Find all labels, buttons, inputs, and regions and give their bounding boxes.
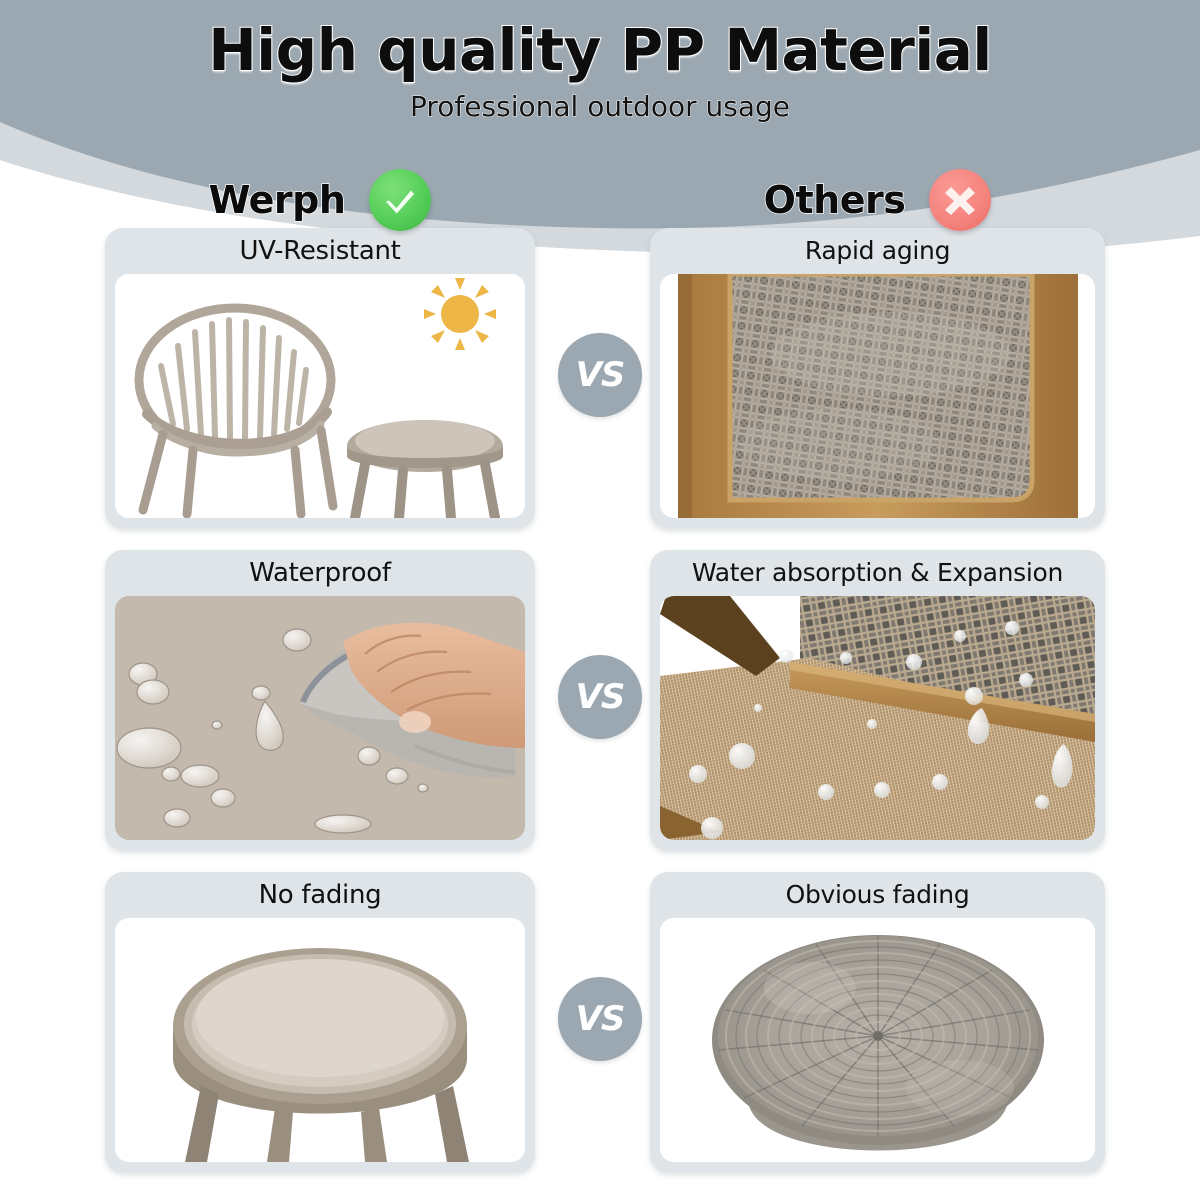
vs-badge: VS [558, 655, 642, 739]
photo-hand-wiping-water-beads [115, 596, 525, 840]
card-werph-no-fading: No fading [105, 872, 535, 1172]
header: High quality PP Material Professional ou… [0, 0, 1200, 165]
vs-badge: VS [558, 977, 642, 1061]
photo-taupe-round-table-top [115, 918, 525, 1162]
brand-header-werph: Werph [105, 170, 535, 230]
card-others-water-absorption: Water absorption & Expansion [650, 550, 1105, 850]
brand-name-right: Others [764, 178, 906, 222]
card-title: Waterproof [105, 550, 535, 596]
card-others-rapid-aging: Rapid aging [650, 228, 1105, 528]
card-title: Rapid aging [650, 228, 1105, 274]
vs-badge: VS [558, 333, 642, 417]
card-werph-uv-resistant: UV-Resistant [105, 228, 535, 528]
photo-patio-chair-and-side-table [115, 274, 525, 518]
card-title: UV-Resistant [105, 228, 535, 274]
comparison-row: Waterproof [0, 550, 1200, 850]
card-title: No fading [105, 872, 535, 918]
cross-badge-icon [929, 169, 991, 231]
check-badge-icon [369, 169, 431, 231]
page-subtitle: Professional outdoor usage [0, 90, 1200, 123]
page-title: High quality PP Material [0, 0, 1200, 84]
card-title: Obvious fading [650, 872, 1105, 918]
photo-weathered-cane-panel [660, 274, 1095, 518]
brand-header-others: Others [650, 170, 1105, 230]
card-werph-waterproof: Waterproof [105, 550, 535, 850]
card-title: Water absorption & Expansion [650, 550, 1105, 596]
photo-faded-gray-wicker-stool-top [660, 918, 1095, 1162]
brand-name-left: Werph [209, 178, 346, 222]
comparison-row: UV-Resistant [0, 228, 1200, 528]
card-others-obvious-fading: Obvious fading [650, 872, 1105, 1172]
comparison-grid: UV-Resistant [0, 228, 1200, 1194]
photo-water-droplets-on-rattan-seat [660, 596, 1095, 840]
comparison-row: No fading VS [0, 872, 1200, 1172]
